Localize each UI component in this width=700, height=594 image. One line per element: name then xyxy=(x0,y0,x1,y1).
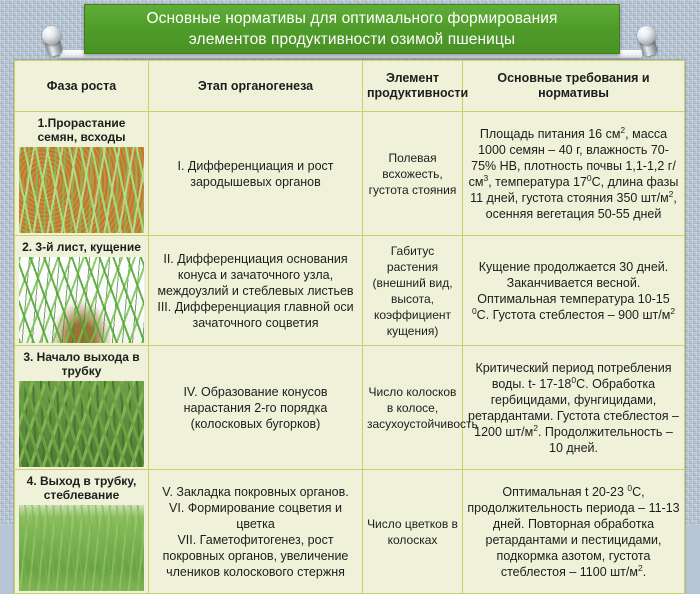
table-row: 1.Прорастание семян, всходы I. Дифференц… xyxy=(15,112,685,236)
cell-element: Число цветков в колосках xyxy=(363,470,463,594)
table-header-row: Фаза роста Этап органогенеза Элемент про… xyxy=(15,61,685,112)
table-row: 3. Начало выхода в трубку IV. Образовани… xyxy=(15,346,685,470)
wheat-field-photo xyxy=(19,505,144,591)
table-body: 1.Прорастание семян, всходы I. Дифференц… xyxy=(15,112,685,594)
phase-label: 1.Прорастание семян, всходы xyxy=(19,116,144,144)
column-header-element: Элемент продуктивности xyxy=(363,61,463,112)
wheat-seedlings-photo xyxy=(19,147,144,233)
cell-element: Число колосков в колосе, засухоустойчиво… xyxy=(363,346,463,470)
column-header-phase: Фаза роста xyxy=(15,61,149,112)
title-text: Основные нормативы для оптимального форм… xyxy=(146,8,557,50)
cell-phase: 1.Прорастание семян, всходы xyxy=(15,112,149,236)
cell-stage: I. Дифференциация и рост зародышевых орг… xyxy=(149,112,363,236)
cell-phase: 2. 3-й лист, кущение xyxy=(15,236,149,346)
cell-requirements: Кущение продолжается 30 дней. Заканчивае… xyxy=(463,236,685,346)
wheat-stem-elongation-photo xyxy=(19,381,144,467)
cell-element: Полевая всхожесть, густота стояния xyxy=(363,112,463,236)
cell-requirements: Критический период потребления воды. t- … xyxy=(463,346,685,470)
norms-table: Фаза роста Этап органогенеза Элемент про… xyxy=(14,60,685,594)
screw-pin-left-icon xyxy=(34,26,68,60)
title-line-1: Основные нормативы для оптимального форм… xyxy=(146,10,557,27)
title-line-2: элементов продуктивности озимой пшеницы xyxy=(189,31,515,48)
cell-requirements: Оптимальная t 20-23 0С, продолжительност… xyxy=(463,470,685,594)
pin-head xyxy=(637,26,656,45)
table-row: 4. Выход в трубку, стеблевание V. Заклад… xyxy=(15,470,685,594)
phase-label: 2. 3-й лист, кущение xyxy=(19,240,144,254)
pin-head xyxy=(42,26,61,45)
column-header-stage: Этап органогенеза xyxy=(149,61,363,112)
cell-element: Габитус растения (внешний вид, высота, к… xyxy=(363,236,463,346)
cell-phase: 4. Выход в трубку, стеблевание xyxy=(15,470,149,594)
cell-requirements: Площадь питания 16 см2, масса 1000 семян… xyxy=(463,112,685,236)
cell-stage: IV. Образование конусов нарастания 2-го … xyxy=(149,346,363,470)
cell-phase: 3. Начало выхода в трубку xyxy=(15,346,149,470)
wheat-tillering-photo xyxy=(19,257,144,343)
screw-pin-right-icon xyxy=(629,26,663,60)
cell-stage: II. Дифференциация основания конуса и за… xyxy=(149,236,363,346)
table-row: 2. 3-й лист, кущение II. Дифференциация … xyxy=(15,236,685,346)
phase-label: 3. Начало выхода в трубку xyxy=(19,350,144,378)
column-header-requirements: Основные требования и нормативы xyxy=(463,61,685,112)
title-banner: Основные нормативы для оптимального форм… xyxy=(84,4,620,54)
phase-label: 4. Выход в трубку, стеблевание xyxy=(19,474,144,502)
cell-stage: V. Закладка покровных органов. VI. Форми… xyxy=(149,470,363,594)
